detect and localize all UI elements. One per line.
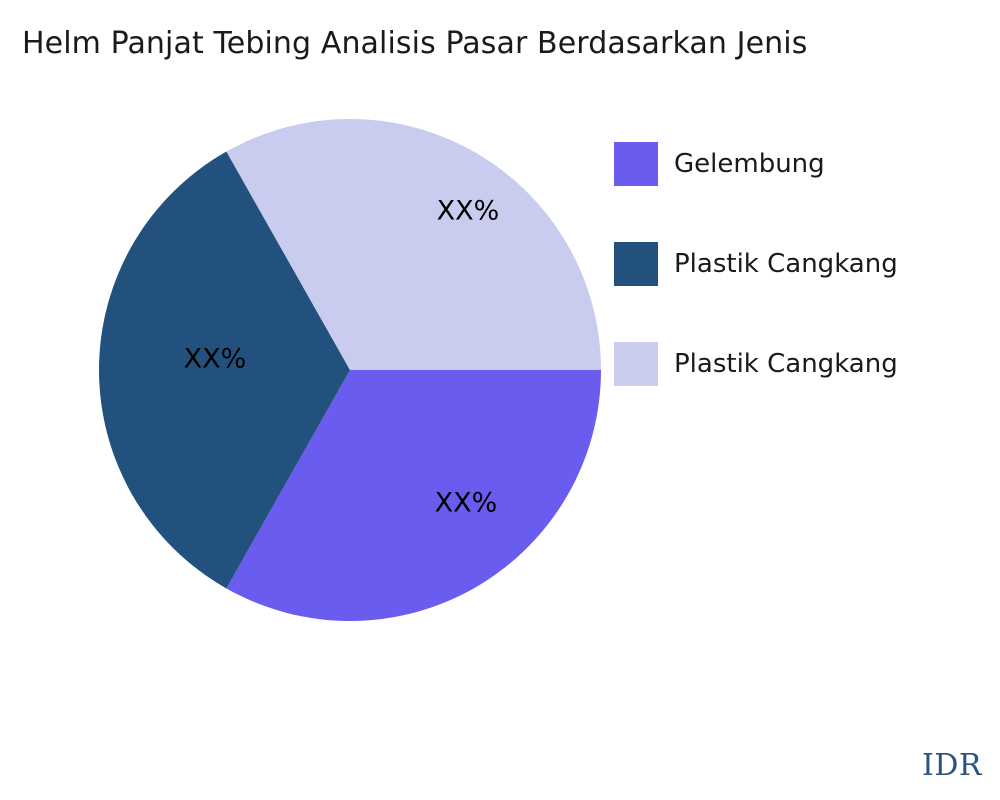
legend-item-plastik-cangkang-dark[interactable]: Plastik Cangkang xyxy=(614,214,986,314)
legend-swatch-icon xyxy=(614,242,658,286)
chart-title: Helm Panjat Tebing Analisis Pasar Berdas… xyxy=(22,26,962,62)
pie-slice-label-plastik-cangkang-dark: XX% xyxy=(184,344,247,375)
chart-legend: Gelembung Plastik Cangkang Plastik Cangk… xyxy=(614,114,986,414)
pie-slice-label-gelembung: XX% xyxy=(435,488,498,519)
legend-item-plastik-cangkang-light[interactable]: Plastik Cangkang xyxy=(614,314,986,414)
legend-swatch-icon xyxy=(614,142,658,186)
legend-item-gelembung[interactable]: Gelembung xyxy=(614,114,986,214)
legend-item-label: Plastik Cangkang xyxy=(674,251,898,277)
pie-slices xyxy=(99,119,601,621)
legend-item-label: Gelembung xyxy=(674,151,825,177)
pie-chart-figure: Helm Panjat Tebing Analisis Pasar Berdas… xyxy=(0,0,1000,800)
pie-plot-area: XX% XX% XX% xyxy=(99,119,601,621)
legend-swatch-icon xyxy=(614,342,658,386)
pie-svg: XX% XX% XX% xyxy=(99,119,601,621)
legend-item-label: Plastik Cangkang xyxy=(674,351,898,377)
pie-slice-label-plastik-cangkang-light: XX% xyxy=(437,196,500,227)
watermark-label: IDR xyxy=(922,748,982,783)
